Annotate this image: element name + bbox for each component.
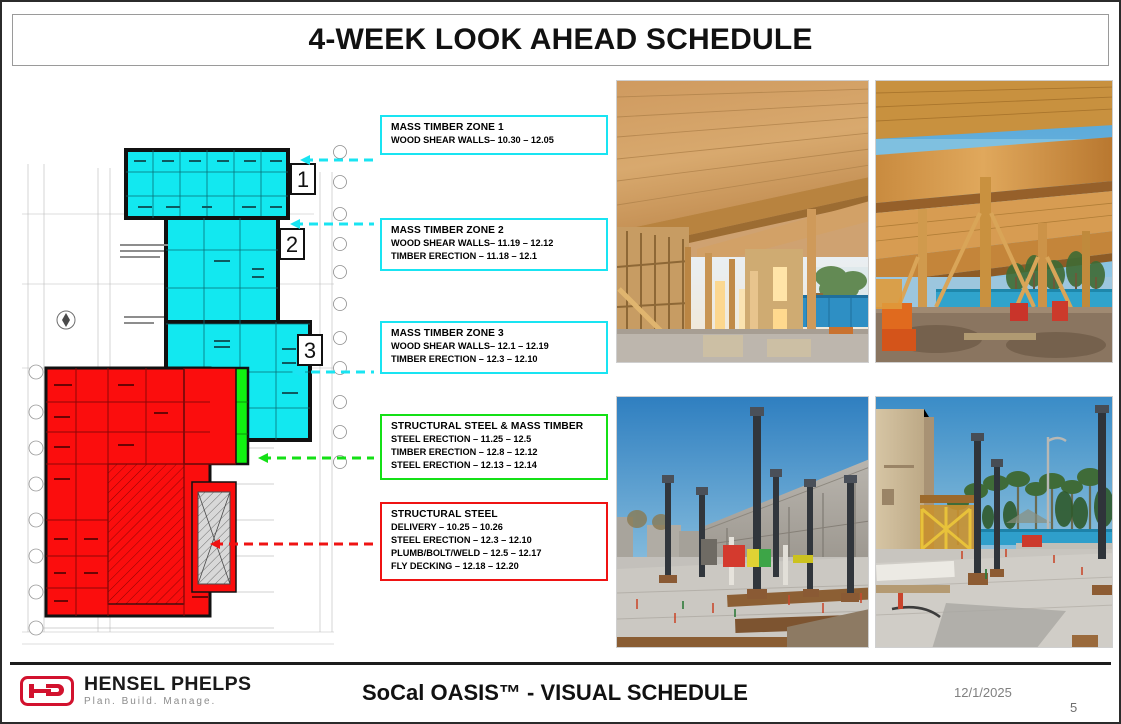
callout-line: WOOD SHEAR WALLS– 11.19 – 12.12 [391, 237, 598, 250]
callout-title: STRUCTURAL STEEL [391, 509, 598, 520]
callout-line: FLY DECKING – 12.18 – 12.20 [391, 560, 598, 573]
plan-zone-marker-2: 2 [280, 229, 304, 259]
slide-title-box: 4-WEEK LOOK AHEAD SCHEDULE [12, 14, 1109, 66]
callout-title: MASS TIMBER ZONE 3 [391, 328, 598, 339]
hp-logo-icon [20, 676, 74, 706]
callout-line: STEEL ERECTION – 12.13 – 12.14 [391, 459, 598, 472]
floor-plan-panel: MASS TIMBER / STRUCTURAL STEEL [14, 72, 374, 652]
callout-mass-timber-zone-3[interactable]: MASS TIMBER ZONE 3 WOOD SHEAR WALLS– 12.… [380, 321, 608, 374]
photo-steel-columns-tilt-up[interactable] [616, 396, 869, 648]
photo-steel-columns-palms[interactable] [875, 396, 1113, 648]
callout-line: STEEL ERECTION – 11.25 – 12.5 [391, 433, 598, 446]
svg-text:3: 3 [304, 338, 316, 363]
callout-line: TIMBER ERECTION – 12.3 – 12.10 [391, 353, 598, 366]
callout-structural-steel-and-mass-timber[interactable]: STRUCTURAL STEEL & MASS TIMBER STEEL ERE… [380, 414, 608, 480]
svg-text:2: 2 [286, 232, 298, 257]
footer-divider [10, 662, 1111, 665]
hensel-phelps-logo: HENSEL PHELPS Plan. Build. Manage. [20, 674, 251, 708]
callout-title: MASS TIMBER ZONE 2 [391, 225, 598, 236]
callout-structural-steel[interactable]: STRUCTURAL STEEL DELIVERY – 10.25 – 10.2… [380, 502, 608, 581]
callout-line: TIMBER ERECTION – 12.8 – 12.12 [391, 446, 598, 459]
company-name: HENSEL PHELPS [84, 674, 251, 694]
slide: 4-WEEK LOOK AHEAD SCHEDULE MASS TIMBER /… [0, 0, 1121, 724]
callout-line: STEEL ERECTION – 12.3 – 12.10 [391, 534, 598, 547]
page-number: 5 [1070, 700, 1077, 715]
callout-title: STRUCTURAL STEEL & MASS TIMBER [391, 421, 598, 432]
plan-zone-1 [126, 150, 288, 218]
callout-mass-timber-zone-2[interactable]: MASS TIMBER ZONE 2 WOOD SHEAR WALLS– 11.… [380, 218, 608, 271]
floor-plan-drawing: 1 2 3 [14, 72, 374, 652]
callout-mass-timber-zone-1[interactable]: MASS TIMBER ZONE 1 WOOD SHEAR WALLS– 10.… [380, 115, 608, 155]
project-title: SoCal OASIS™ - VISUAL SCHEDULE [362, 680, 748, 706]
plan-zone-marker-1: 1 [291, 164, 315, 194]
photo-mass-timber-interior[interactable] [616, 80, 869, 363]
photo-glulam-beams[interactable] [875, 80, 1113, 363]
callout-line: WOOD SHEAR WALLS– 12.1 – 12.19 [391, 340, 598, 353]
company-tagline: Plan. Build. Manage. [84, 696, 251, 708]
callout-line: WOOD SHEAR WALLS– 10.30 – 12.05 [391, 134, 598, 147]
page-title: 4-WEEK LOOK AHEAD SCHEDULE [308, 23, 812, 57]
plan-zone-marker-3: 3 [298, 335, 322, 365]
callout-line: TIMBER ERECTION – 11.18 – 12.1 [391, 250, 598, 263]
slide-date: 12/1/2025 [954, 685, 1012, 700]
callout-line: DELIVERY – 10.25 – 10.26 [391, 521, 598, 534]
plan-zone-red [46, 368, 236, 616]
callout-title: MASS TIMBER ZONE 1 [391, 122, 598, 133]
callout-line: PLUMB/BOLT/WELD – 12.5 – 12.17 [391, 547, 598, 560]
svg-text:1: 1 [297, 167, 309, 192]
plan-north-symbol [57, 311, 75, 329]
